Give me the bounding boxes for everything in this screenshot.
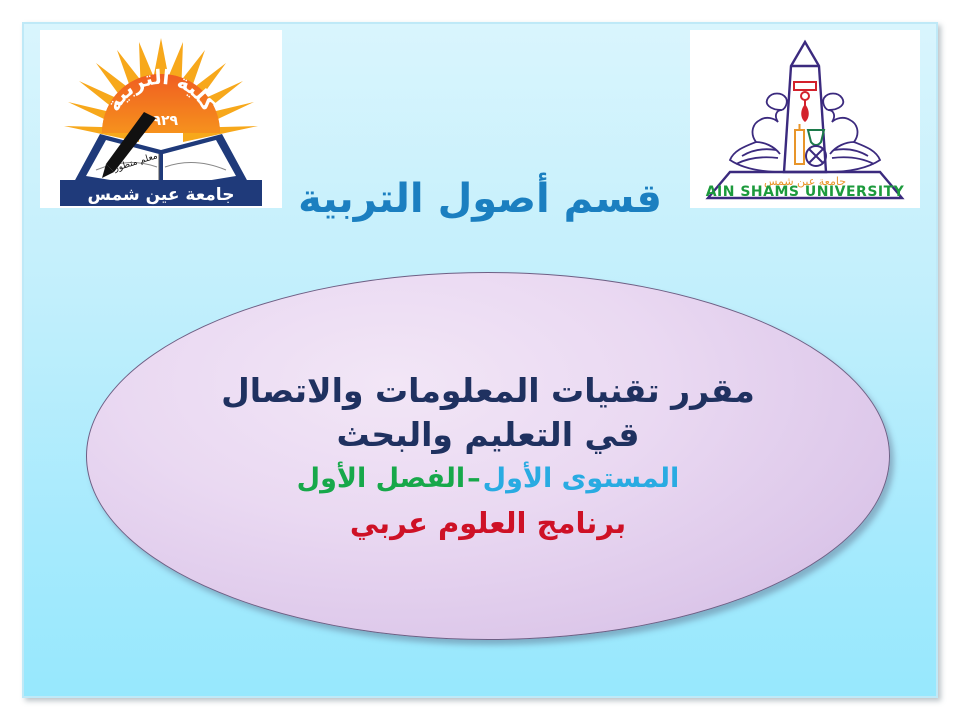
course-info-content: مقرر تقنيات المعلومات والاتصال قي التعلي… [168,370,808,542]
program-label: برنامج العلوم عربي [168,505,808,542]
level-and-term-line: المستوى الأول–الفصل الأول [168,462,808,497]
term-label: الفصل الأول [297,463,466,494]
slide-root: كلية التربية ١٩٢٩ معلم متطور جامعة عين ش… [0,0,960,720]
slide-panel: كلية التربية ١٩٢٩ معلم متطور جامعة عين ش… [22,22,938,698]
level-label: المستوى الأول [483,463,680,494]
level-term-separator: – [465,463,483,494]
course-title-line-2: قي التعليم والبحث [168,414,808,456]
department-heading: قسم أصول التربية [24,176,936,222]
course-title-line-1: مقرر تقنيات المعلومات والاتصال [168,370,808,412]
course-info-ellipse: مقرر تقنيات المعلومات والاتصال قي التعلي… [86,272,890,640]
